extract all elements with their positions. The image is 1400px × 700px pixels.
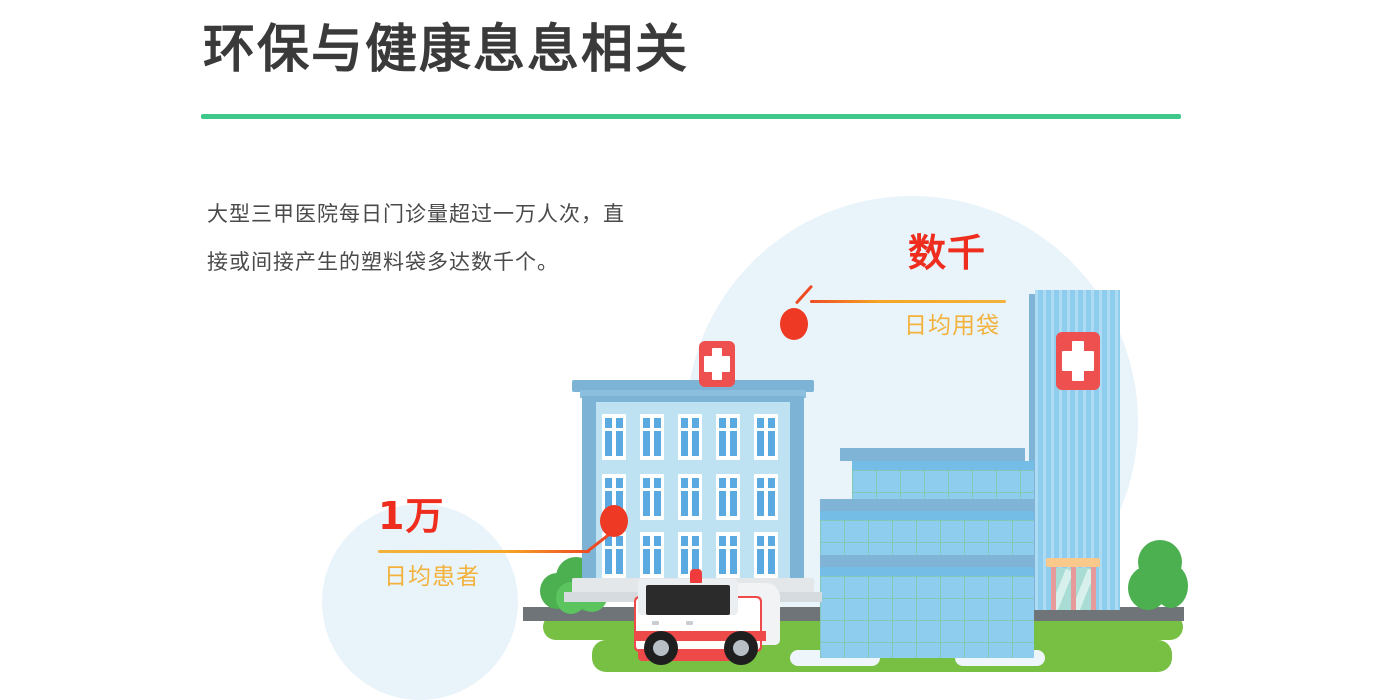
ambulance — [628, 567, 778, 665]
window — [754, 414, 778, 460]
ambulance-handle-1 — [652, 621, 659, 625]
callout-bags-rule — [810, 300, 1006, 303]
callout-patients-dot — [600, 505, 628, 537]
mid-rise-parapet — [840, 448, 1025, 461]
window — [754, 474, 778, 520]
window — [640, 414, 664, 460]
callout-bags-dot — [780, 308, 808, 340]
ambulance-window — [646, 585, 730, 615]
callout-patients-value: 1万 — [378, 485, 444, 540]
mid-rise-band-3 — [820, 567, 1034, 658]
callout-bags: 数千 日均用袋 — [780, 222, 1040, 342]
mid-rise-divider-2 — [820, 555, 1034, 567]
entrance-pillar-2 — [1071, 567, 1076, 610]
title-underline-rule — [201, 114, 1181, 119]
ambulance-handle-2 — [686, 621, 693, 625]
callout-patients: 1万 日均患者 — [378, 485, 628, 605]
mid-rise-band-1 — [852, 461, 1034, 499]
hospital-mid-rise — [840, 448, 1040, 610]
window — [640, 474, 664, 520]
mid-rise-divider-1 — [820, 499, 1034, 511]
callout-patients-rule — [378, 550, 590, 553]
bush-right — [1128, 540, 1190, 612]
page-title: 环保与健康息息相关 — [203, 24, 689, 76]
siren-light-icon — [690, 569, 702, 583]
entrance-canopy — [1046, 558, 1100, 610]
mid-rise-band-2 — [820, 511, 1034, 555]
callout-patients-leader — [585, 533, 610, 554]
red-cross-sign-tower — [1056, 332, 1100, 390]
window — [716, 474, 740, 520]
ambulance-wheel-front — [724, 631, 758, 665]
body-paragraph: 大型三甲医院每日门诊量超过一万人次，直接或间接产生的塑料袋多达数千个。 — [207, 190, 637, 286]
callout-patients-label: 日均患者 — [384, 557, 480, 591]
window — [716, 414, 740, 460]
red-cross-sign-roof — [699, 341, 735, 387]
ambulance-wheel-rear — [644, 631, 678, 665]
callout-bags-label: 日均用袋 — [904, 306, 1000, 340]
awning-roof — [1046, 558, 1100, 567]
window — [602, 414, 626, 460]
entrance-glass-left — [1054, 568, 1072, 610]
callout-bags-value: 数千 — [908, 222, 986, 277]
window — [678, 414, 702, 460]
infographic-canvas: 环保与健康息息相关 大型三甲医院每日门诊量超过一万人次，直接或间接产生的塑料袋多… — [0, 0, 1400, 700]
entrance-pillar-1 — [1051, 567, 1056, 610]
window — [678, 474, 702, 520]
entrance-pillar-3 — [1091, 567, 1096, 610]
